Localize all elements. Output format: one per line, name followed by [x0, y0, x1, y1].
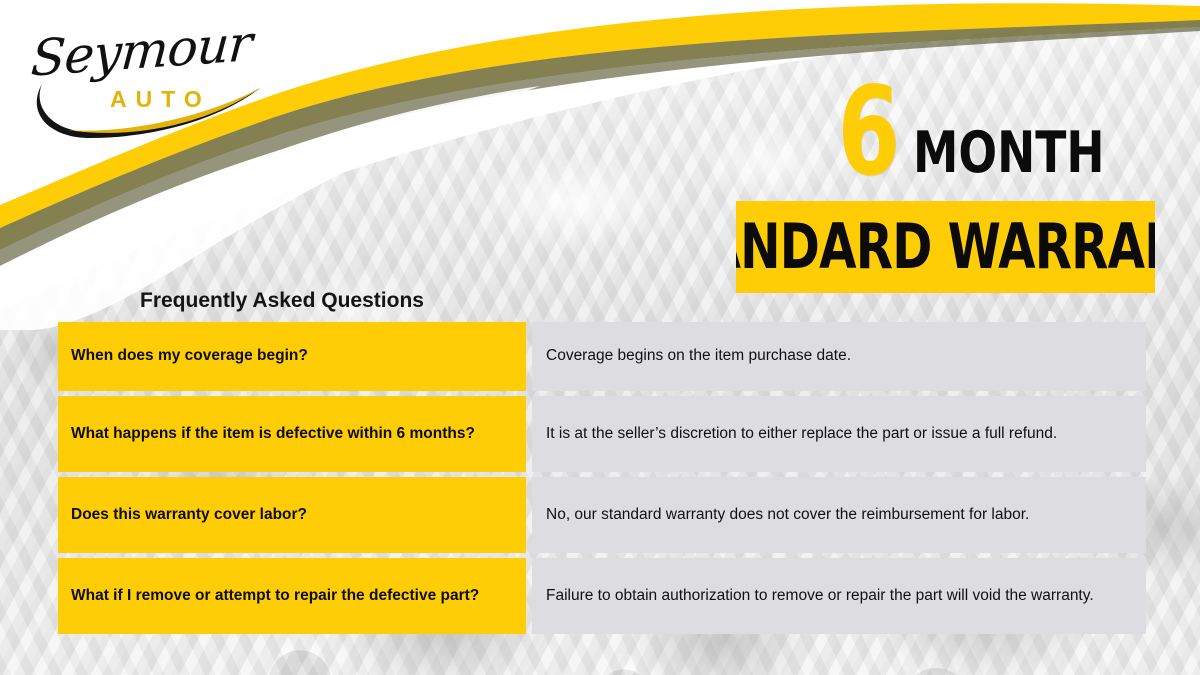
table-row: Does this warranty cover labor? No, our …: [58, 477, 1146, 553]
standard-warranty-banner: STANDARD WARRANTY: [736, 201, 1155, 293]
logo-auto-text: AUTO: [110, 86, 211, 113]
faq-section-heading: Frequently Asked Questions: [140, 289, 424, 313]
faq-answer-cell: No, our standard warranty does not cover…: [532, 477, 1146, 553]
faq-question-cell: Does this warranty cover labor?: [58, 477, 526, 553]
table-row: What happens if the item is defective wi…: [58, 396, 1146, 472]
warranty-headline: 6 MONTH: [736, 78, 1156, 182]
table-row: When does my coverage begin? Coverage be…: [58, 322, 1146, 391]
seymour-auto-logo: Seymour AUTO: [24, 20, 274, 135]
banner-title: STANDARD WARRANTY: [736, 216, 1155, 278]
faq-table: When does my coverage begin? Coverage be…: [58, 322, 1146, 634]
faq-answer-cell: Failure to obtain authorization to remov…: [532, 558, 1146, 634]
duration-unit-label: MONTH: [913, 129, 1108, 178]
table-row: What if I remove or attempt to repair th…: [58, 558, 1146, 634]
warranty-slide: Seymour AUTO 6 MONTH STANDARD WARRANTY F…: [0, 0, 1200, 675]
faq-answer-cell: Coverage begins on the item purchase dat…: [532, 322, 1146, 391]
faq-question-cell: When does my coverage begin?: [58, 322, 526, 391]
duration-number: 6: [837, 82, 898, 182]
faq-question-cell: What happens if the item is defective wi…: [58, 396, 526, 472]
faq-question-cell: What if I remove or attempt to repair th…: [58, 558, 526, 634]
faq-answer-cell: It is at the seller’s discretion to eith…: [532, 396, 1146, 472]
